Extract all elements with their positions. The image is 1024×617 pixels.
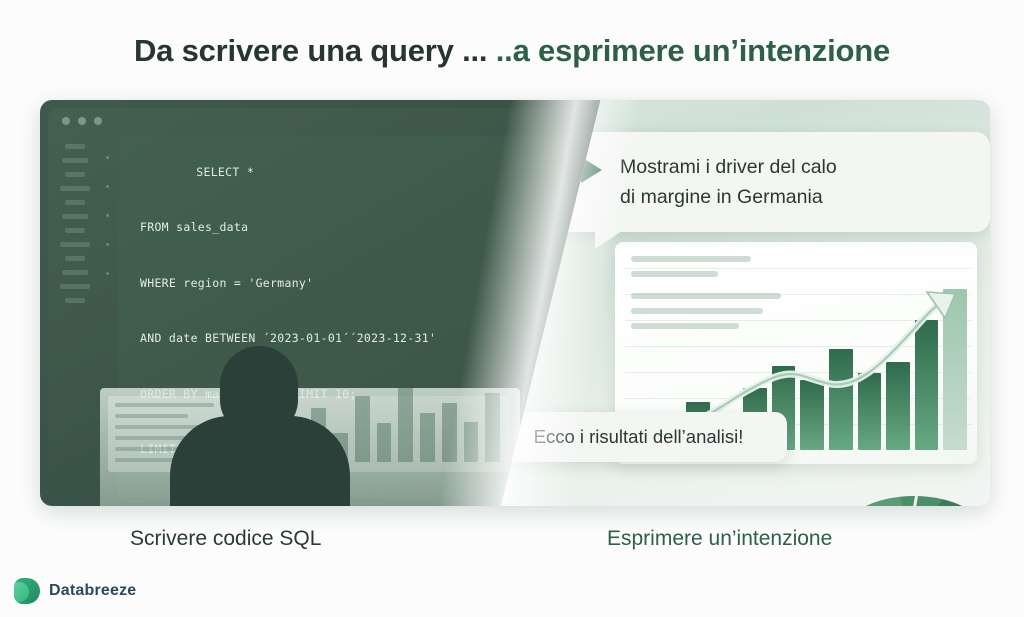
sidebar-item — [65, 200, 85, 205]
split-comparison-panel: SELECT * FROM sales_data WHERE region = … — [40, 100, 990, 506]
breakpoint-dot-icon — [106, 214, 109, 217]
sidebar-item — [62, 214, 88, 219]
sidebar-item — [65, 256, 85, 261]
prompt-line-1: Mostrami i driver del calo — [620, 156, 837, 178]
breakpoint-dot-icon — [106, 156, 109, 159]
bar-9 — [858, 373, 882, 450]
answer-text: Ecco i risultati dell’analisi! — [506, 424, 771, 450]
dashboard-bar-9 — [420, 413, 435, 462]
code-line: AND date BETWEEN ´2023-01-01´´2023-12-31… — [124, 329, 564, 348]
dashboard-bar-7 — [377, 423, 392, 462]
breakpoint-dot-icon — [106, 185, 109, 188]
caption-right: Esprimere un’intenzione — [607, 527, 832, 551]
bar-7 — [800, 380, 824, 450]
window-minimize-dot-icon[interactable] — [78, 117, 86, 125]
dashboard-bar-11 — [464, 422, 479, 462]
caption-left: Scrivere codice SQL — [130, 527, 321, 551]
editor-titlebar — [48, 108, 568, 134]
editor-sidebar — [54, 134, 96, 498]
prompt-text: Mostrami i driver del calo di margine in… — [620, 152, 837, 212]
sidebar-item — [60, 242, 90, 247]
dashboard-bar-8 — [398, 388, 413, 462]
sidebar-item — [62, 158, 88, 163]
code-line: SELECT * — [196, 165, 254, 179]
bar-12 — [943, 289, 967, 450]
bar-8 — [829, 349, 853, 450]
user-prompt-bubble[interactable]: Mostrami i driver del calo di margine in… — [557, 132, 990, 232]
assistant-answer-bubble[interactable]: Ecco i risultati dell’analisi! — [490, 412, 787, 462]
dashboard-bar-6 — [355, 396, 370, 462]
sidebar-item — [65, 228, 85, 233]
sidebar-item — [60, 284, 90, 289]
window-close-dot-icon[interactable] — [62, 117, 70, 125]
breakpoint-dot-icon — [106, 243, 109, 246]
bar-11 — [915, 320, 939, 450]
prompt-row: Mostrami i driver del calo di margine in… — [581, 152, 968, 212]
page-title-part-green: ..a esprimere un’intenzione — [496, 33, 890, 68]
bar-10 — [886, 362, 910, 450]
code-line: FROM sales_data — [124, 218, 564, 237]
brand-name: Databreeze — [49, 582, 136, 600]
sidebar-item — [65, 172, 85, 177]
databreeze-leaf-icon — [14, 578, 40, 604]
sidebar-item — [60, 186, 90, 191]
dashboard-bar-12 — [485, 393, 500, 462]
breakpoint-dot-icon — [106, 272, 109, 275]
page-title: Da scrivere una query ... ..a esprimere … — [0, 33, 1024, 69]
window-maximize-dot-icon[interactable] — [94, 117, 102, 125]
code-line: WHERE region = 'Germany' — [124, 274, 564, 293]
dashboard-bar-10 — [442, 403, 457, 462]
page-title-part-dark: Da scrivere una query ... — [134, 33, 496, 68]
pie-chart — [835, 490, 990, 506]
person-silhouette — [170, 346, 350, 506]
gridline — [625, 268, 971, 269]
sidebar-item — [65, 298, 85, 303]
prompt-line-2: di margine in Germania — [620, 186, 823, 208]
sidebar-item — [65, 144, 85, 149]
sidebar-item — [62, 270, 88, 275]
silhouette-body — [170, 416, 350, 506]
brand-logo[interactable]: Databreeze — [14, 578, 136, 604]
bubble-tail — [595, 229, 625, 249]
